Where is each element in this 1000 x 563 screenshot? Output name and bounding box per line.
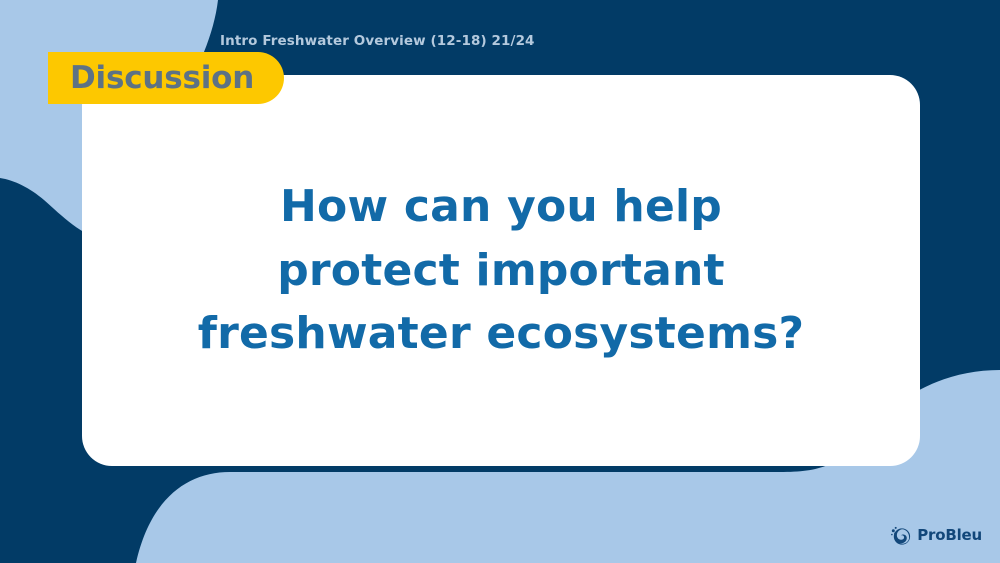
section-badge-label: Discussion [70,63,254,94]
brand-logo: ProBleu [889,524,982,547]
section-badge: Discussion [48,52,284,104]
header-title: Intro Freshwater Overview (12-18) 21/24 [220,33,535,49]
question-block: How can you help protect important fresh… [82,75,920,466]
brand-wordmark: ProBleu [917,528,982,543]
probleu-swirl-icon [889,524,912,547]
question-text: How can you help protect important fresh… [192,175,810,366]
slide-canvas: Intro Freshwater Overview (12-18) 21/24 … [0,0,1000,563]
